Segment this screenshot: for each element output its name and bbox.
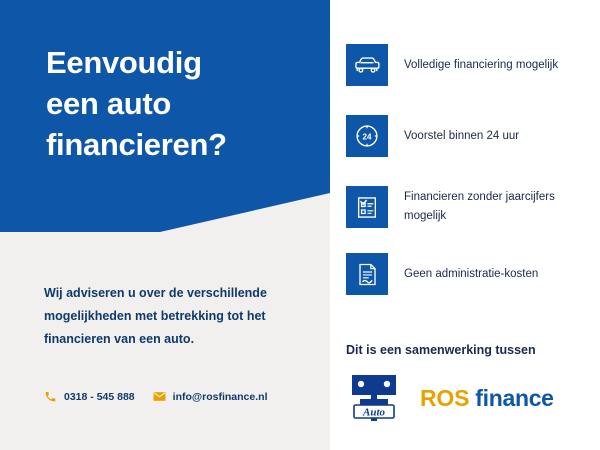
ros-finance-logo[interactable]: ROS finance (420, 385, 554, 412)
feature-label: Volledige financiering mogelijk (404, 56, 558, 75)
svg-text:24: 24 (362, 132, 372, 141)
headline-line-3: financieren? (46, 124, 316, 165)
phone-number: 0318 - 545 888 (64, 391, 135, 403)
partner-title: Dit is een samenwerking tussen (346, 343, 536, 357)
promo-banner: Eenvoudig een auto financieren? Wij advi… (0, 0, 600, 450)
ros-word: ROS (420, 385, 469, 412)
phone-contact[interactable]: 0318 - 545 888 (44, 390, 135, 403)
feature-item-no-annual-figures: Financieren zonder jaarcijfers mogelijk (346, 186, 590, 228)
feature-label: Voorstel binnen 24 uur (404, 127, 519, 146)
logo-row: Auto ROS finance (346, 375, 554, 421)
feature-item-no-admin-costs: Geen administratie-kosten (346, 253, 590, 295)
feature-label: Financieren zonder jaarcijfers mogelijk (404, 188, 590, 225)
finance-word: finance (475, 385, 553, 412)
email-address: info@rosfinance.nl (173, 391, 268, 403)
left-panel: Eenvoudig een auto financieren? Wij advi… (0, 0, 330, 450)
auto-dealer-logo[interactable]: Auto (346, 375, 402, 421)
headline-line-1: Eenvoudig (46, 42, 316, 83)
phone-icon (44, 390, 57, 403)
feature-item-financing: Volledige financiering mogelijk (346, 44, 590, 86)
right-panel: Volledige financiering mogelijk 24 Voors… (330, 0, 600, 450)
signed-document-icon (346, 253, 388, 295)
feature-item-24h: 24 Voorstel binnen 24 uur (346, 115, 590, 157)
clock-24-icon: 24 (346, 115, 388, 157)
headline-line-2: een auto (46, 83, 316, 124)
contact-row: 0318 - 545 888 info@rosfinance.nl (44, 390, 267, 403)
intro-paragraph: Wij adviseren u over de verschillende mo… (44, 282, 284, 351)
svg-text:Auto: Auto (362, 407, 386, 419)
car-front-icon (346, 44, 388, 86)
email-contact[interactable]: info@rosfinance.nl (153, 390, 268, 403)
envelope-icon (153, 390, 166, 403)
checklist-document-icon (346, 186, 388, 228)
page-title: Eenvoudig een auto financieren? (46, 42, 316, 166)
feature-label: Geen administratie-kosten (404, 265, 538, 284)
